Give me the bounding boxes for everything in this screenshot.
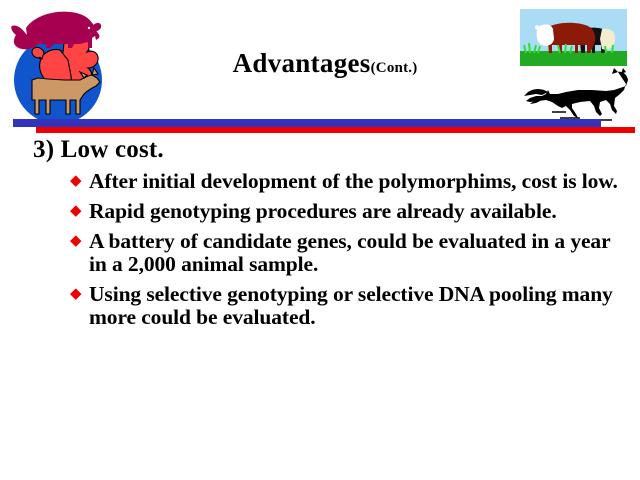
divider-bar-blue xyxy=(13,119,601,127)
page-title-continuation: (Cont.) xyxy=(371,60,418,76)
galloping-horse-silhouette xyxy=(522,68,632,126)
bullet-list: ◆ After initial development of the polym… xyxy=(70,170,630,336)
livestock-logo xyxy=(4,2,108,128)
page-title-main: Advantages xyxy=(233,48,371,78)
list-item: ◆ Rapid genotyping procedures are alread… xyxy=(70,200,630,223)
content-heading: 3) Low cost. xyxy=(33,136,164,164)
slide-header: Advantages(Cont.) xyxy=(0,0,640,132)
slide-canvas: Advantages(Cont.) xyxy=(0,0,640,480)
list-item-text: Using selective genotyping or selective … xyxy=(89,283,630,329)
diamond-bullet-icon: ◆ xyxy=(70,201,81,223)
list-item-text: Rapid genotyping procedures are already … xyxy=(89,200,630,223)
page-title: Advantages(Cont.) xyxy=(150,48,500,79)
list-item: ◆ A battery of candidate genes, could be… xyxy=(70,230,630,276)
diamond-bullet-icon: ◆ xyxy=(70,171,81,193)
slide-body: 3) Low cost. ◆ After initial development… xyxy=(0,134,640,480)
divider-bar-red xyxy=(36,127,635,133)
list-item-text: A battery of candidate genes, could be e… xyxy=(89,230,630,276)
cattle-in-pasture-photo xyxy=(520,9,627,66)
list-item: ◆ Using selective genotyping or selectiv… xyxy=(70,283,630,329)
list-item: ◆ After initial development of the polym… xyxy=(70,170,630,193)
diamond-bullet-icon: ◆ xyxy=(70,231,81,253)
diamond-bullet-icon: ◆ xyxy=(70,284,81,306)
list-item-text: After initial development of the polymor… xyxy=(89,170,630,193)
